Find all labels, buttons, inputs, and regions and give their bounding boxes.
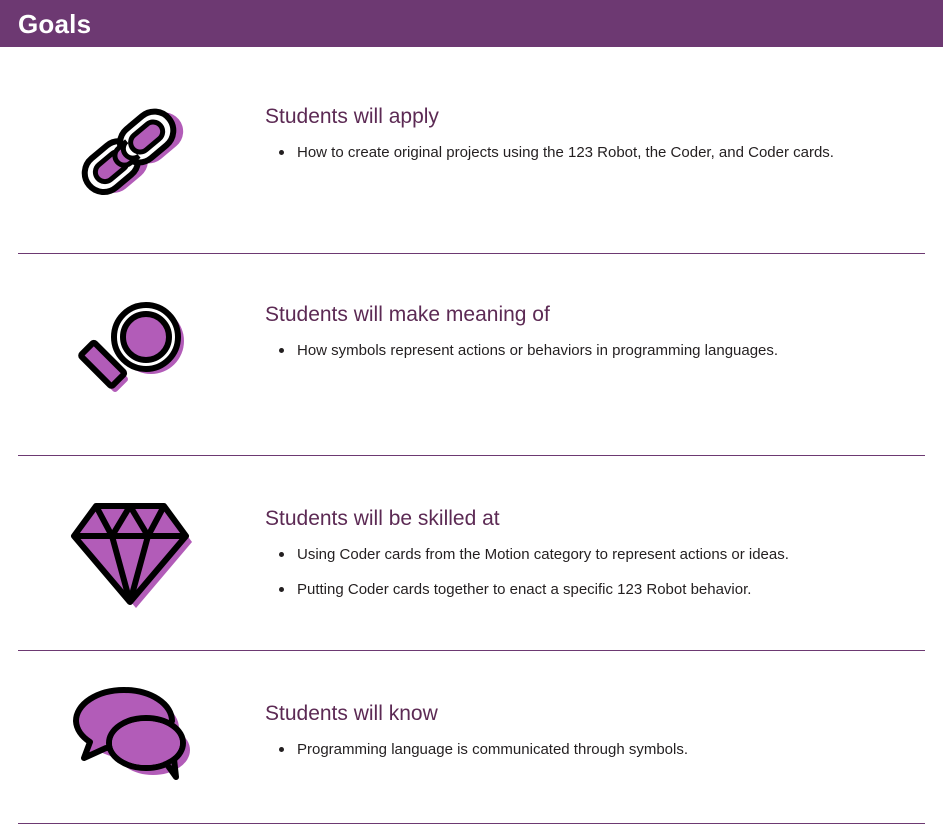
list-item: Using Coder cards from the Motion catego… xyxy=(265,543,923,566)
goal-section-skilled-at: Students will be skilled at Using Coder … xyxy=(0,456,943,610)
goal-section-apply: Students will apply How to create origin… xyxy=(0,47,943,211)
diamond-icon xyxy=(0,492,265,610)
list-item: How symbols represent actions or behavio… xyxy=(265,339,923,362)
magnifying-glass-icon xyxy=(0,298,265,410)
list-item: Putting Coder cards together to enact a … xyxy=(265,578,923,601)
goal-text-make-meaning: Students will make meaning of How symbol… xyxy=(265,298,943,362)
page-title: Goals xyxy=(18,11,91,37)
goal-heading: Students will be skilled at xyxy=(265,506,923,531)
goal-text-apply: Students will apply How to create origin… xyxy=(265,99,943,164)
chain-link-icon xyxy=(0,99,265,211)
goals-sections: Students will apply How to create origin… xyxy=(0,47,943,824)
goal-bullet-list: Programming language is communicated thr… xyxy=(265,738,923,761)
page-header: Goals xyxy=(0,0,943,47)
goals-page: Goals xyxy=(0,0,943,748)
list-item: Programming language is communicated thr… xyxy=(265,738,923,761)
goal-bullet-list: How symbols represent actions or behavio… xyxy=(265,339,923,362)
goal-bullet-list: Using Coder cards from the Motion catego… xyxy=(265,543,923,602)
goal-section-make-meaning: Students will make meaning of How symbol… xyxy=(0,254,943,410)
goal-bullet-list: How to create original projects using th… xyxy=(265,141,923,164)
speech-bubbles-icon xyxy=(0,685,265,781)
goal-heading: Students will make meaning of xyxy=(265,302,923,327)
goal-heading: Students will know xyxy=(265,701,923,726)
goal-text-skilled-at: Students will be skilled at Using Coder … xyxy=(265,492,943,602)
goal-section-know: Students will know Programming language … xyxy=(0,651,943,781)
goal-text-know: Students will know Programming language … xyxy=(265,685,943,761)
goal-heading: Students will apply xyxy=(265,104,923,129)
list-item: How to create original projects using th… xyxy=(265,141,923,164)
